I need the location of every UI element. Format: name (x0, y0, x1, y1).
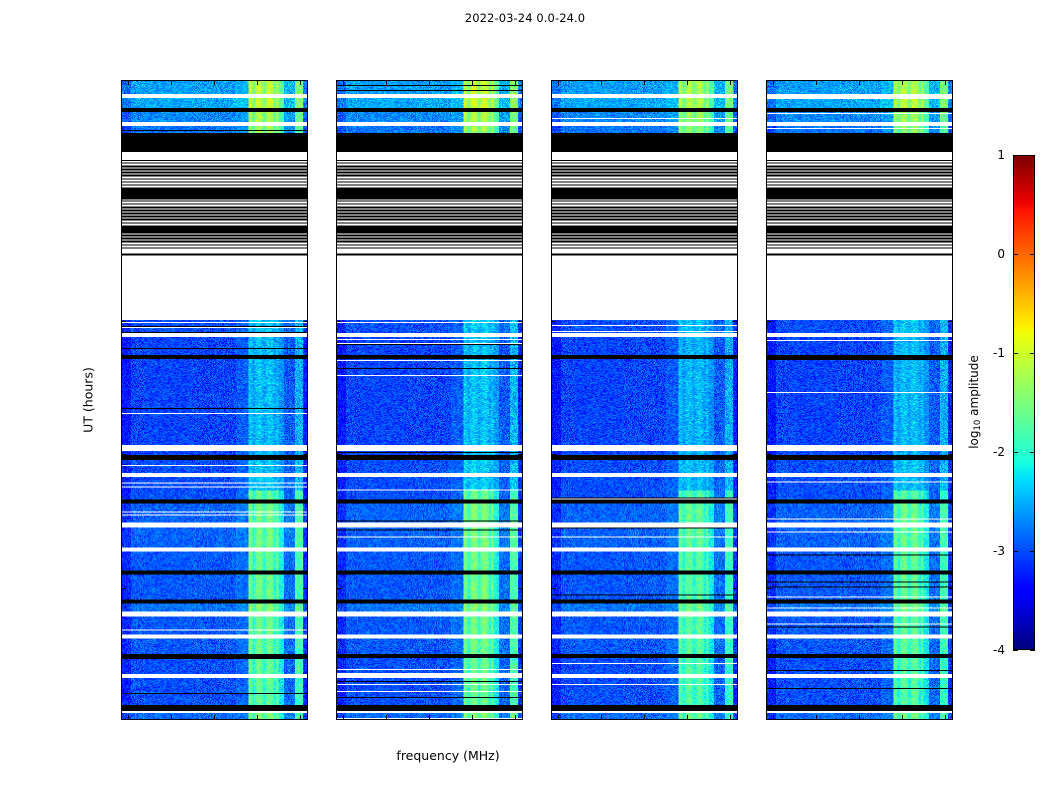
y-tick (122, 188, 126, 189)
x-tick-top (214, 81, 215, 85)
colorbar-tick-right (1030, 551, 1035, 552)
colorbar-tick-label: -1 (993, 346, 1011, 360)
x-tick (472, 715, 473, 719)
x-tick-top (902, 81, 903, 85)
x-tick-top (816, 81, 817, 85)
spectrum-image-xy (552, 81, 737, 719)
x-tick-top (558, 81, 559, 85)
colorbar-label-subscript: 10 (973, 420, 983, 431)
colorbar-tick-label: -4 (993, 643, 1011, 657)
colorbar-tick-right (1030, 452, 1035, 453)
y-tick-right (948, 321, 952, 322)
x-tick (601, 715, 602, 719)
panel-yy: YY, V12*V17=EA20*EA213203353503653800510… (336, 80, 523, 720)
x-tick-top (601, 81, 602, 85)
y-tick-right (518, 588, 522, 589)
y-tick (337, 321, 341, 322)
colorbar-tick (1013, 551, 1018, 552)
y-tick-right (303, 588, 307, 589)
y-tick-right (733, 588, 737, 589)
x-tick (515, 715, 516, 719)
colorbar-tick-right (1030, 254, 1035, 255)
y-tick (122, 454, 126, 455)
x-tick (558, 715, 559, 719)
colorbar-tick-right (1030, 353, 1035, 354)
spectrum-image-yx (767, 81, 952, 719)
y-tick-right (518, 188, 522, 189)
x-tick (214, 715, 215, 719)
x-axis-label: frequency (MHz) (396, 748, 499, 763)
x-tick (300, 715, 301, 719)
y-tick-right (303, 188, 307, 189)
x-tick-top (128, 81, 129, 85)
x-tick-top (257, 81, 258, 85)
colorbar-tick (1013, 254, 1018, 255)
x-tick (171, 715, 172, 719)
x-tick-top (945, 81, 946, 85)
spectrum-image-xx (122, 81, 307, 719)
panel-xy: XY, V12*V17=EA20*EA213203353503653800510… (551, 80, 738, 720)
colorbar-label-text: log (967, 430, 981, 448)
colorbar-tick (1013, 452, 1018, 453)
y-tick (337, 454, 341, 455)
x-tick-top (773, 81, 774, 85)
y-tick-right (948, 454, 952, 455)
y-tick (122, 588, 126, 589)
x-tick-top (687, 81, 688, 85)
colorbar-tick-label: -3 (993, 544, 1011, 558)
x-tick (386, 715, 387, 719)
y-tick (767, 188, 771, 189)
x-tick (644, 715, 645, 719)
x-tick-top (644, 81, 645, 85)
figure-canvas: 2022-03-24 0.0-24.0 UT (hours) frequency… (0, 0, 1050, 800)
x-tick (859, 715, 860, 719)
panel-yx: YX, V12*V17=EA20*EA213203353503653800510… (766, 80, 953, 720)
x-tick (128, 715, 129, 719)
y-tick (552, 321, 556, 322)
x-tick-top (300, 81, 301, 85)
y-tick-right (303, 321, 307, 322)
x-tick-top (386, 81, 387, 85)
colorbar-canvas (1014, 156, 1034, 649)
x-tick-top (515, 81, 516, 85)
x-tick (343, 715, 344, 719)
y-tick (552, 454, 556, 455)
x-tick (902, 715, 903, 719)
y-tick (122, 321, 126, 322)
colorbar-gradient (1014, 156, 1034, 649)
x-tick (945, 715, 946, 719)
x-tick-top (472, 81, 473, 85)
colorbar-tick-label: 1 (997, 148, 1011, 162)
x-tick-top (730, 81, 731, 85)
x-tick (257, 715, 258, 719)
y-tick-right (733, 321, 737, 322)
y-tick (552, 588, 556, 589)
y-tick-right (948, 588, 952, 589)
y-tick (767, 321, 771, 322)
x-tick-top (171, 81, 172, 85)
x-tick (730, 715, 731, 719)
x-tick (773, 715, 774, 719)
y-tick-right (733, 454, 737, 455)
y-tick (552, 188, 556, 189)
x-tick (816, 715, 817, 719)
colorbar-tick (1013, 353, 1018, 354)
x-tick-top (343, 81, 344, 85)
x-tick-top (859, 81, 860, 85)
colorbar-tick-label: -2 (993, 445, 1011, 459)
y-axis-label: UT (hours) (81, 367, 96, 433)
colorbar-label-tail: amplitude (967, 355, 981, 419)
y-tick-right (948, 188, 952, 189)
y-tick-right (518, 454, 522, 455)
colorbar-tick (1013, 650, 1018, 651)
y-tick (337, 188, 341, 189)
colorbar-tick-right (1030, 650, 1035, 651)
x-tick (429, 715, 430, 719)
colorbar-tick-right (1030, 155, 1035, 156)
y-tick (767, 454, 771, 455)
colorbar-label: log10 amplitude (967, 355, 983, 449)
y-tick-right (303, 454, 307, 455)
y-tick (767, 588, 771, 589)
y-tick-right (518, 321, 522, 322)
colorbar-tick-label: 0 (997, 247, 1011, 261)
figure-suptitle: 2022-03-24 0.0-24.0 (0, 11, 1050, 25)
colorbar (1013, 155, 1035, 650)
spectrum-image-yy (337, 81, 522, 719)
x-tick-top (429, 81, 430, 85)
colorbar-tick (1013, 155, 1018, 156)
y-tick (337, 588, 341, 589)
x-tick (687, 715, 688, 719)
y-tick-right (733, 188, 737, 189)
panel-xx: XX, V12*V17=EA20*EA213203353503653800510… (121, 80, 308, 720)
